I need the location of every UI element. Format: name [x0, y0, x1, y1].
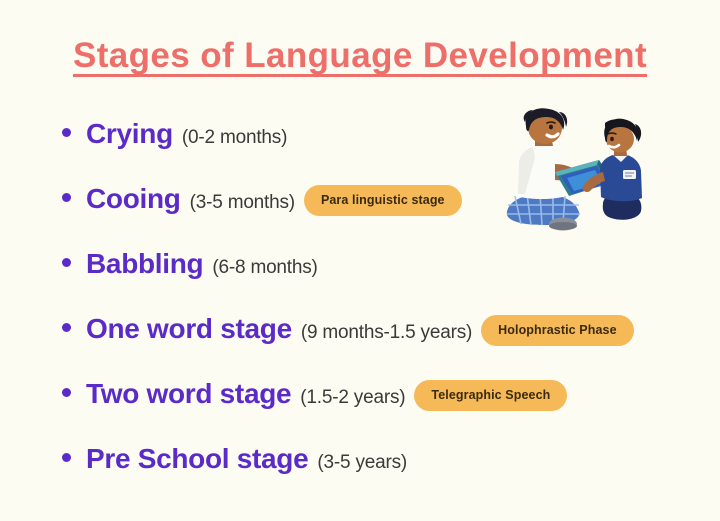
- page-title: Stages of Language Development: [0, 36, 720, 76]
- stage-name: Babbling: [86, 248, 203, 280]
- bullet-icon: [62, 193, 71, 202]
- list-item: Babbling (6-8 months): [62, 248, 712, 313]
- list-item: Two word stage (1.5-2 years) Telegraphic…: [62, 378, 712, 443]
- list-item: One word stage (9 months-1.5 years) Holo…: [62, 313, 712, 378]
- bullet-icon: [62, 453, 71, 462]
- stage-age-range: (3-5 months): [190, 192, 295, 214]
- stage-age-range: (1.5-2 years): [300, 387, 405, 409]
- stage-name: Cooing: [86, 183, 181, 215]
- stage-age-range: (0-2 months): [182, 127, 287, 149]
- bullet-icon: [62, 388, 71, 397]
- adult-reading-to-child-illustration: [495, 108, 660, 236]
- stage-age-range: (6-8 months): [212, 257, 317, 279]
- stage-name: Crying: [86, 118, 173, 150]
- stage-tag-badge: Para linguistic stage: [304, 185, 462, 216]
- list-item: Pre School stage (3-5 years): [62, 443, 712, 508]
- stage-name: Two word stage: [86, 378, 291, 410]
- stage-age-range: (9 months-1.5 years): [301, 322, 472, 344]
- stage-tag-badge: Holophrastic Phase: [481, 315, 634, 346]
- bullet-icon: [62, 258, 71, 267]
- stage-age-range: (3-5 years): [317, 452, 407, 474]
- bullet-icon: [62, 323, 71, 332]
- stage-tag-badge: Telegraphic Speech: [414, 380, 567, 411]
- bullet-icon: [62, 128, 71, 137]
- slide-canvas: Stages of Language Development Crying (0…: [0, 0, 720, 521]
- stage-name: One word stage: [86, 313, 292, 345]
- stage-name: Pre School stage: [86, 443, 308, 475]
